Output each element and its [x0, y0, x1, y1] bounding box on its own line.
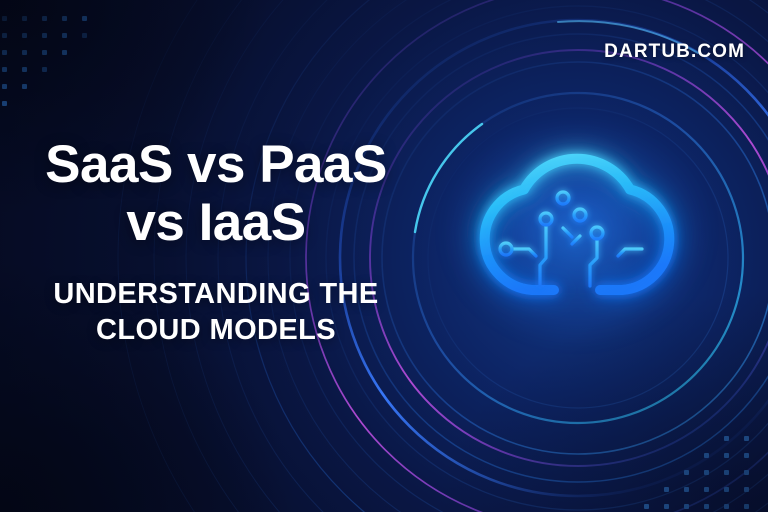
title-line-2: vs IaaS — [0, 194, 432, 252]
title-line-1: SaaS vs PaaS — [45, 135, 387, 194]
page-subtitle: UNDERSTANDING THE CLOUD MODELS — [0, 276, 432, 350]
subtitle-line-1: UNDERSTANDING THE — [0, 276, 432, 313]
cloud-descending-traces — [546, 286, 597, 358]
text-block: SaaS vs PaaS vs IaaS UNDERSTANDING THE C… — [0, 136, 432, 349]
cloud-circuit-graphic — [432, 108, 722, 378]
poster-canvas: DARTUB.COM SaaS vs PaaS vs IaaS UNDERSTA… — [0, 0, 768, 512]
brand-watermark: DARTUB.COM — [604, 41, 745, 63]
subtitle-line-2: CLOUD MODELS — [0, 312, 432, 349]
cloud-circuit-icon — [432, 108, 722, 378]
cloud-inner-fill — [476, 165, 678, 293]
page-title: SaaS vs PaaS vs IaaS — [0, 136, 432, 252]
